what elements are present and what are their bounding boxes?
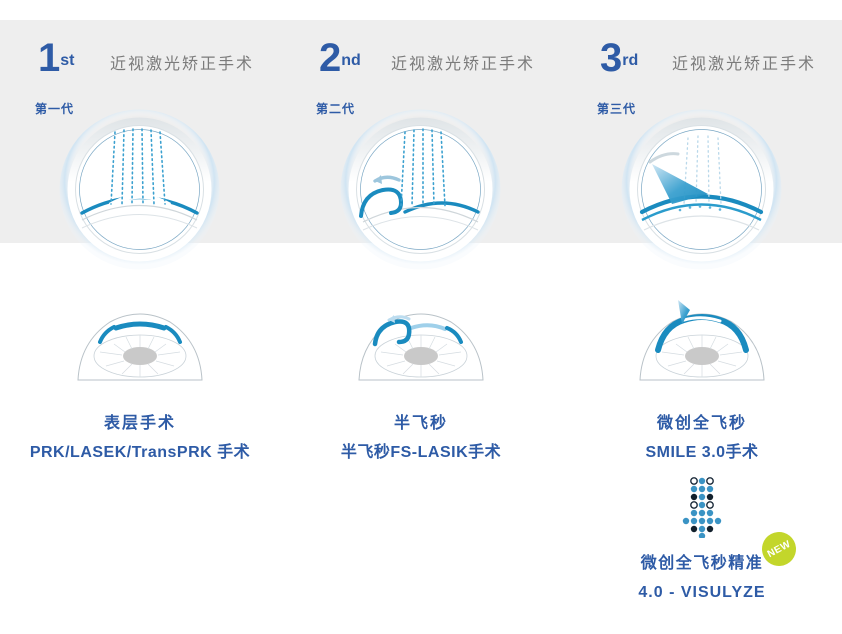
eye-surface-ablation-icon <box>70 292 210 387</box>
generation-column-3: 3rd 第三代 近视激光矫正手术 <box>562 0 842 634</box>
cornea-laser-ablation-icon <box>58 108 221 271</box>
dotted-down-arrow-icon <box>667 476 737 538</box>
caption-line-2: SMILE 3.0手术 <box>562 438 842 468</box>
column-title-2: 近视激光矫正手术 <box>391 50 535 74</box>
column-title-3: 近视激光矫正手术 <box>672 50 816 74</box>
extra-caption: 微创全飞秒精准 4.0 - VISULYZE NEW <box>638 550 765 608</box>
cornea-lenticule-extraction-icon <box>620 108 783 271</box>
caption-line-2: 半飞秒FS-LASIK手术 <box>281 438 561 468</box>
caption-line-1: 表层手术 <box>0 410 280 438</box>
ordinal-suffix: nd <box>341 52 361 69</box>
ordinal-number: 2 <box>319 36 340 80</box>
ordinal-number: 1 <box>38 36 59 80</box>
cornea-flap-laser-icon <box>339 108 502 271</box>
column-caption-2: 半飞秒 半飞秒FS-LASIK手术 <box>281 410 561 468</box>
extra-product-block: 微创全飞秒精准 4.0 - VISULYZE NEW <box>562 476 842 608</box>
caption-line-1: 微创全飞秒 <box>562 410 842 438</box>
ordinal-badge-1: 1st <box>38 38 74 78</box>
ordinal-badge-3: 3rd <box>600 38 638 78</box>
eye-lenticule-extraction-icon <box>632 292 772 387</box>
column-header-1: 1st 第一代 近视激光矫正手术 <box>0 38 280 118</box>
column-title-1: 近视激光矫正手术 <box>110 50 254 74</box>
generation-column-2: 2nd 第二代 近视激光矫正手术 <box>281 0 561 634</box>
generation-column-1: 1st 第一代 近视激光矫正手术 <box>0 0 280 634</box>
column-header-2: 2nd 第二代 近视激光矫正手术 <box>281 38 561 118</box>
infographic-root: 1st 第一代 近视激光矫正手术 <box>0 0 842 634</box>
ordinal-suffix: rd <box>622 52 638 69</box>
eye-corneal-flap-icon <box>351 292 491 387</box>
caption-line-2: PRK/LASEK/TransPRK 手术 <box>0 438 280 468</box>
column-header-3: 3rd 第三代 近视激光矫正手术 <box>562 38 842 118</box>
ordinal-suffix: st <box>60 52 74 69</box>
column-caption-3: 微创全飞秒 SMILE 3.0手术 <box>562 410 842 468</box>
column-caption-1: 表层手术 PRK/LASEK/TransPRK 手术 <box>0 410 280 468</box>
extra-caption-line-2: 4.0 - VISULYZE <box>638 578 765 608</box>
ordinal-badge-2: 2nd <box>319 38 361 78</box>
caption-line-1: 半飞秒 <box>281 410 561 438</box>
extra-caption-line-1: 微创全飞秒精准 <box>638 550 765 578</box>
ordinal-number: 3 <box>600 36 621 80</box>
